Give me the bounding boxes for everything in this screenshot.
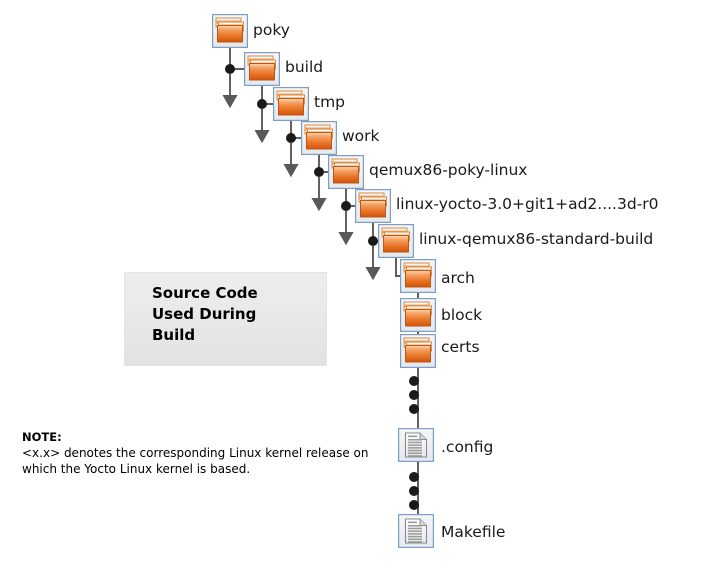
node-label-build: build xyxy=(285,60,323,76)
node-label-tmp: tmp xyxy=(314,95,345,111)
node-label-arch: arch xyxy=(441,271,475,287)
folder-icon[interactable] xyxy=(301,121,337,155)
folder-icon[interactable] xyxy=(355,189,391,223)
node-label-dotconfig: .config xyxy=(441,440,493,456)
connector-layer xyxy=(0,0,705,581)
folder-icon[interactable] xyxy=(273,87,309,121)
folder-icon[interactable] xyxy=(244,52,280,86)
node-label-makefile: Makefile xyxy=(441,525,505,541)
source-code-box-label: Source Code Used During Build xyxy=(152,283,258,346)
node-label-block: block xyxy=(441,308,482,324)
diagram-canvas: pokybuildtmpworkqemux86-poky-linuxlinux-… xyxy=(0,0,705,581)
node-label-linux-qemux86-standard-build: linux-qemux86-standard-build xyxy=(419,232,653,248)
node-label-poky: poky xyxy=(253,23,290,39)
note-title: NOTE: xyxy=(22,430,369,445)
folder-icon[interactable] xyxy=(400,298,436,332)
folder-icon[interactable] xyxy=(328,155,364,189)
node-label-work: work xyxy=(342,129,380,145)
file-icon[interactable] xyxy=(398,428,434,462)
folder-icon[interactable] xyxy=(212,14,248,48)
note-body: <x.x> denotes the corresponding Linux ke… xyxy=(22,445,369,477)
note-block: NOTE: <x.x> denotes the corresponding Li… xyxy=(22,430,369,477)
file-icon[interactable] xyxy=(398,514,434,548)
node-label-linux-yocto-recipe: linux-yocto-3.0+git1+ad2....3d-r0 xyxy=(396,197,659,213)
node-label-qemux86-poky-linux: qemux86-poky-linux xyxy=(369,163,527,179)
folder-icon[interactable] xyxy=(378,224,414,258)
node-label-certs: certs xyxy=(441,340,480,356)
folder-icon[interactable] xyxy=(400,334,436,368)
folder-icon[interactable] xyxy=(400,259,436,293)
